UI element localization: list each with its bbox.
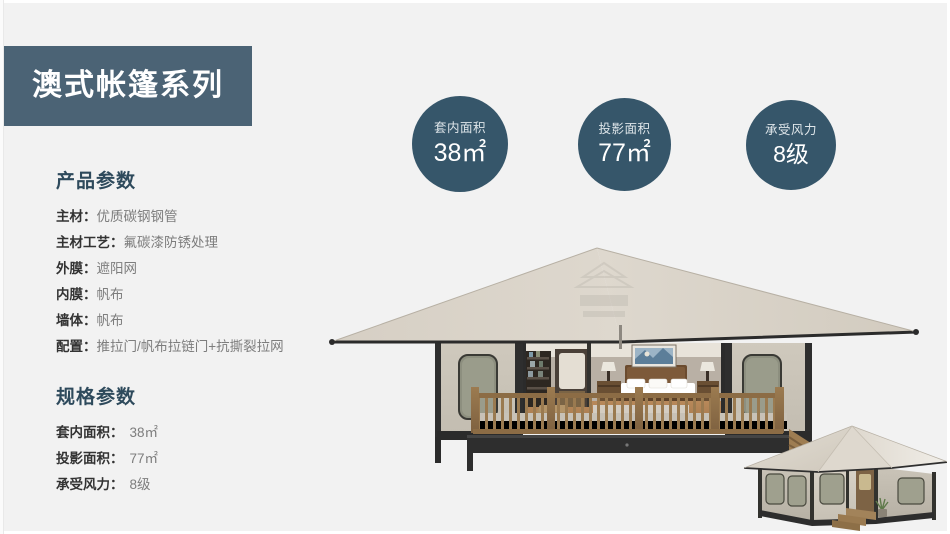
spec-label: 主材：	[56, 209, 97, 224]
dimension-parameters-heading: 规格参数	[56, 382, 346, 409]
spec-value: 氟碳漆防锈处理	[124, 235, 219, 250]
product-parameters-heading: 产品参数	[56, 166, 346, 193]
spec-value: 38㎡	[130, 425, 159, 440]
dimension-parameters-block: 规格参数 套内面积：38㎡ 投影面积：77㎡ 承受风力：8级	[56, 382, 346, 498]
spec-value: 77㎡	[130, 451, 159, 466]
spec-label: 投影面积：	[56, 451, 124, 466]
spec-label: 套内面积：	[56, 425, 124, 440]
stat-value: 8级	[773, 143, 809, 166]
spec-value: 推拉门/帆布拉链门+抗撕裂拉网	[97, 339, 284, 354]
secondary-tent-illustration	[742, 412, 950, 534]
stat-value: 77㎡	[598, 141, 651, 166]
spec-label: 内膜：	[56, 287, 97, 302]
spec-value: 8级	[130, 477, 151, 492]
spec-value: 优质碳钢钢管	[97, 209, 178, 224]
spec-row: 墙体：帆布	[56, 308, 346, 334]
series-title-banner: 澳式帐篷系列	[4, 46, 252, 126]
spec-value: 遮阳网	[97, 261, 138, 276]
spec-label: 主材工艺：	[56, 235, 124, 250]
spec-row: 外膜：遮阳网	[56, 256, 346, 282]
spec-value: 帆布	[97, 287, 124, 302]
spec-row: 套内面积：38㎡	[56, 420, 346, 446]
spec-row: 内膜：帆布	[56, 282, 346, 308]
spec-value: 帆布	[97, 313, 124, 328]
spec-label: 配置：	[56, 339, 97, 354]
spec-row: 主材：优质碳钢钢管	[56, 204, 346, 230]
secondary-tent-graphic	[742, 412, 950, 534]
spec-label: 墙体：	[56, 313, 97, 328]
product-parameters-block: 产品参数 主材：优质碳钢钢管 主材工艺：氟碳漆防锈处理 外膜：遮阳网 内膜：帆布…	[56, 166, 346, 360]
page-title: 澳式帐篷系列	[32, 71, 224, 101]
stat-circle-interior-area: 套内面积 38㎡	[412, 96, 508, 192]
spec-label: 承受风力：	[56, 477, 124, 492]
spec-label: 外膜：	[56, 261, 97, 276]
left-edge-divider	[0, 0, 4, 534]
stat-label: 承受风力	[765, 124, 817, 137]
product-spec-slide: 澳式帐篷系列 产品参数 主材：优质碳钢钢管 主材工艺：氟碳漆防锈处理 外膜：遮阳…	[0, 0, 950, 534]
spec-column: 产品参数 主材：优质碳钢钢管 主材工艺：氟碳漆防锈处理 外膜：遮阳网 内膜：帆布…	[56, 166, 346, 498]
stat-label: 套内面积	[434, 122, 486, 135]
stat-circle-wind-resistance: 承受风力 8级	[746, 100, 836, 190]
spec-row: 主材工艺：氟碳漆防锈处理	[56, 230, 346, 256]
tent-roof	[329, 248, 919, 349]
spec-row: 承受风力：8级	[56, 472, 346, 498]
stat-label: 投影面积	[598, 123, 650, 136]
stat-circle-projected-area: 投影面积 77㎡	[578, 98, 671, 191]
spec-row: 投影面积：77㎡	[56, 446, 346, 472]
stat-value: 38㎡	[434, 141, 487, 166]
spec-row: 配置：推拉门/帆布拉链门+抗撕裂拉网	[56, 334, 346, 360]
